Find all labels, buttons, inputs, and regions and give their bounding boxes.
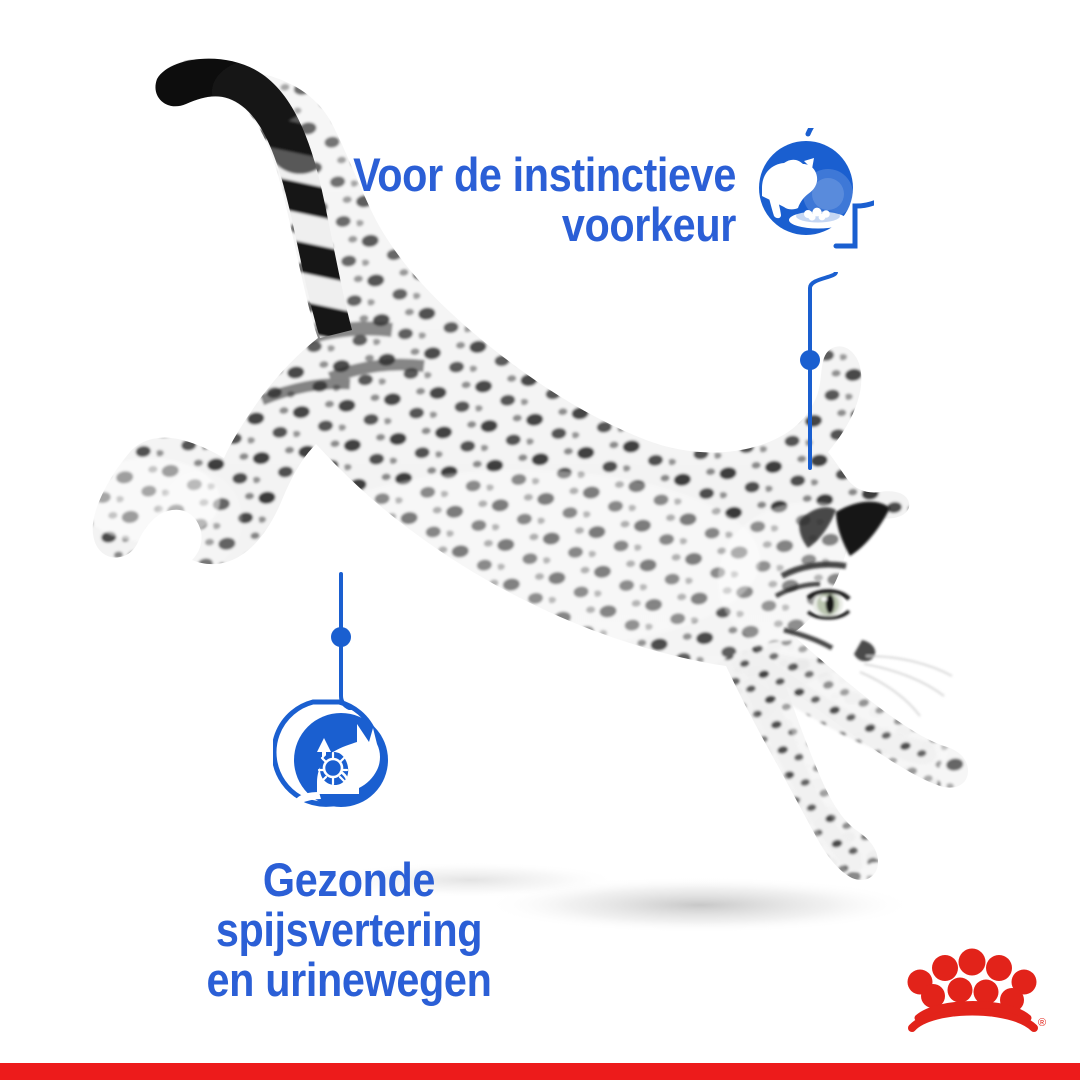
registered-trademark-symbol: ®: [1038, 1017, 1046, 1029]
bottom-red-bar: [0, 1063, 1080, 1080]
cat-eating-from-bowl-icon[interactable]: [748, 128, 874, 254]
connector-line-bottom: [313, 570, 371, 710]
cat-head: [776, 502, 952, 716]
callout-text-digestive-urinary: Gezonde spijsvertering en urinewegen: [129, 855, 569, 1004]
connector-line-top: [782, 272, 840, 472]
cat-eye: [813, 591, 843, 617]
callout-text-instinctive-preference: Voor de instinctieve voorkeur: [296, 150, 736, 250]
front-leg-upper: [730, 648, 936, 764]
royal-canin-crown-logo: ®: [900, 940, 1046, 1036]
connector-dot-bottom: [331, 627, 351, 647]
cat-kidney-digestion-icon[interactable]: [273, 698, 399, 824]
product-benefit-poster: Voor de instinctieve voorkeur: [0, 0, 1080, 1080]
front-leg-lower: [742, 672, 862, 872]
connector-dot-top: [800, 350, 820, 370]
